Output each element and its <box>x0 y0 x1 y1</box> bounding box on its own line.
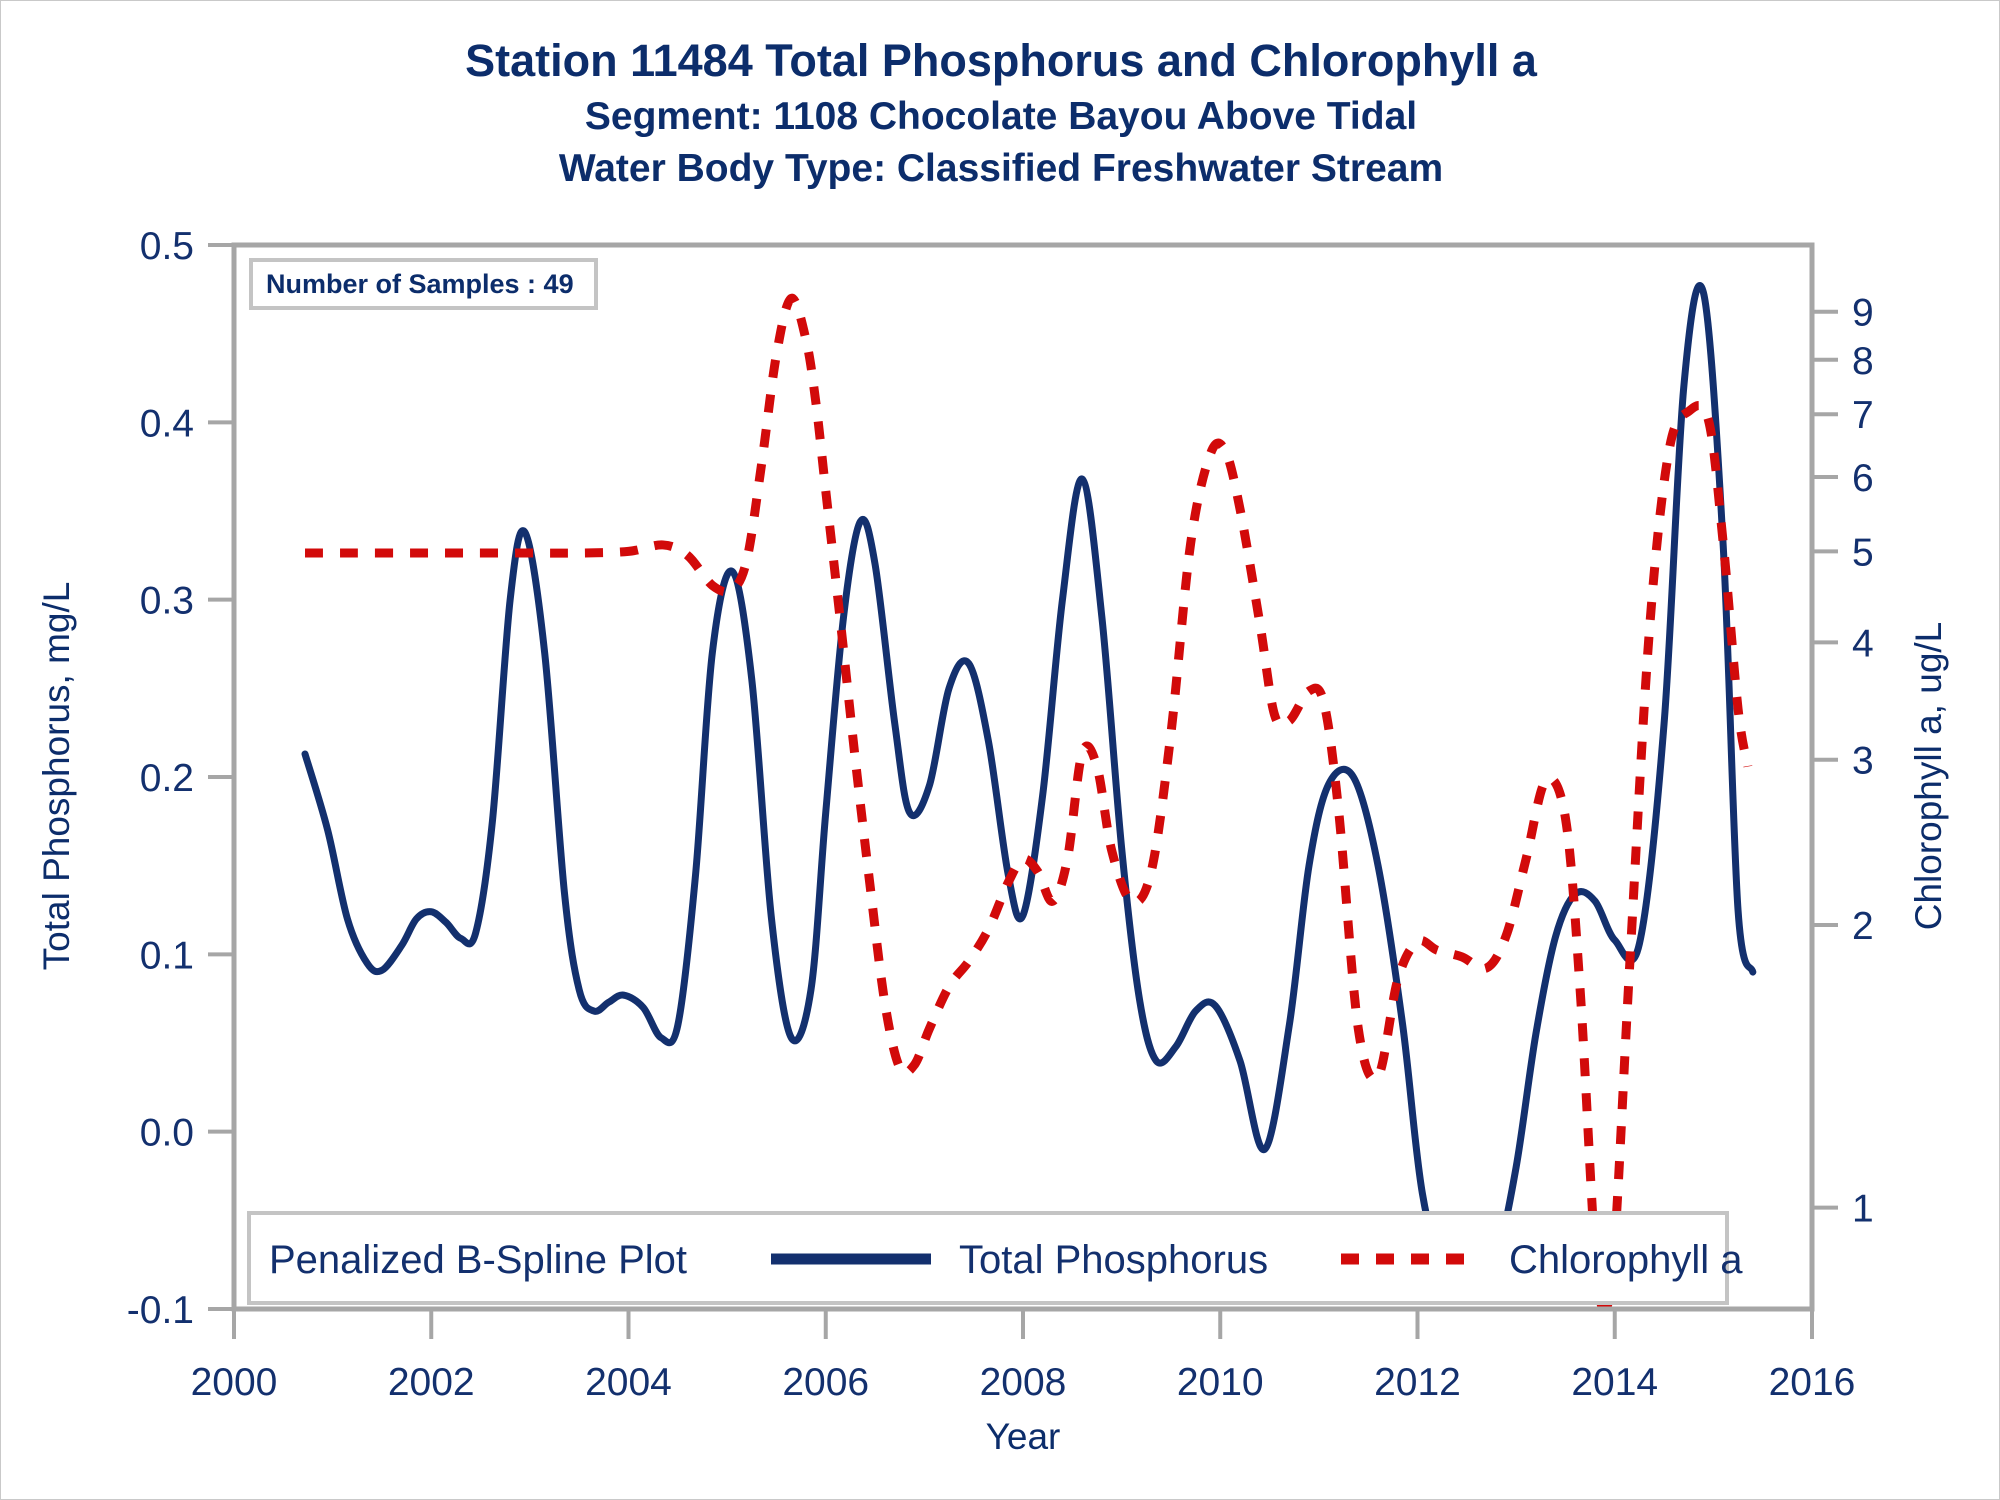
samples-label: Number of Samples : 49 <box>266 269 574 299</box>
x-tick-label: 2014 <box>1571 1361 1658 1404</box>
x-tick-label: 2002 <box>388 1361 475 1404</box>
x-tick-label: 2016 <box>1769 1361 1856 1404</box>
series-layer <box>305 286 1753 1310</box>
legend-label-chlorophyll-a: Chlorophyll a <box>1509 1238 1743 1282</box>
x-tick-label: 2010 <box>1177 1361 1264 1404</box>
y2-tick-label: 3 <box>1852 740 1874 783</box>
chart-legend: Penalized B-Spline Plot Total Phosphorus… <box>249 1213 1743 1303</box>
y-tick-label: 0.2 <box>140 757 194 800</box>
legend-label-total-phosphorus: Total Phosphorus <box>959 1238 1268 1282</box>
x-tick-label: 2004 <box>585 1361 672 1404</box>
series-line-total-phosphorus <box>305 286 1753 1295</box>
y2-tick-label: 2 <box>1852 905 1874 948</box>
y2-tick-label: 6 <box>1852 457 1874 500</box>
chart-title-line2: Segment: 1108 Chocolate Bayou Above Tida… <box>585 95 1417 138</box>
legend-plot-type: Penalized B-Spline Plot <box>269 1238 687 1282</box>
y2-tick-label: 8 <box>1852 340 1874 383</box>
y-tick-label: -0.1 <box>127 1289 194 1332</box>
y-axis-label: Total Phosphorus, mg/L <box>36 582 77 971</box>
y-tick-label: 0.1 <box>140 934 194 977</box>
chart-title-line1: Station 11484 Total Phosphorus and Chlor… <box>465 35 1538 86</box>
x-tick-label: 2000 <box>191 1361 278 1404</box>
chart-page: Station 11484 Total Phosphorus and Chlor… <box>0 0 2000 1500</box>
y-tick-label: 0.0 <box>140 1112 194 1155</box>
series-line-chlorophyll-a <box>305 298 1748 1309</box>
x-tick-label: 2008 <box>980 1361 1067 1404</box>
y2-tick-label: 4 <box>1852 622 1874 665</box>
y2-tick-label: 5 <box>1852 531 1874 574</box>
y2-axis-label: Chlorophyll a, ug/L <box>1908 622 1949 931</box>
x-axis-label: Year <box>986 1416 1061 1457</box>
y2-tick-label: 9 <box>1852 292 1874 335</box>
x-tick-label: 2012 <box>1374 1361 1461 1404</box>
plot-frame <box>234 245 1812 1309</box>
samples-annotation: Number of Samples : 49 <box>251 260 596 308</box>
y-tick-label: 0.4 <box>140 402 194 445</box>
x-tick-label: 2006 <box>782 1361 869 1404</box>
y-tick-label: 0.5 <box>140 225 194 268</box>
y2-tick-label: 1 <box>1852 1188 1874 1231</box>
y2-tick-label: 7 <box>1852 394 1874 437</box>
chart-title-line3: Water Body Type: Classified Freshwater S… <box>559 147 1443 190</box>
y-tick-label: 0.3 <box>140 580 194 623</box>
phosphorus-chlorophyll-chart: Station 11484 Total Phosphorus and Chlor… <box>1 1 2000 1500</box>
